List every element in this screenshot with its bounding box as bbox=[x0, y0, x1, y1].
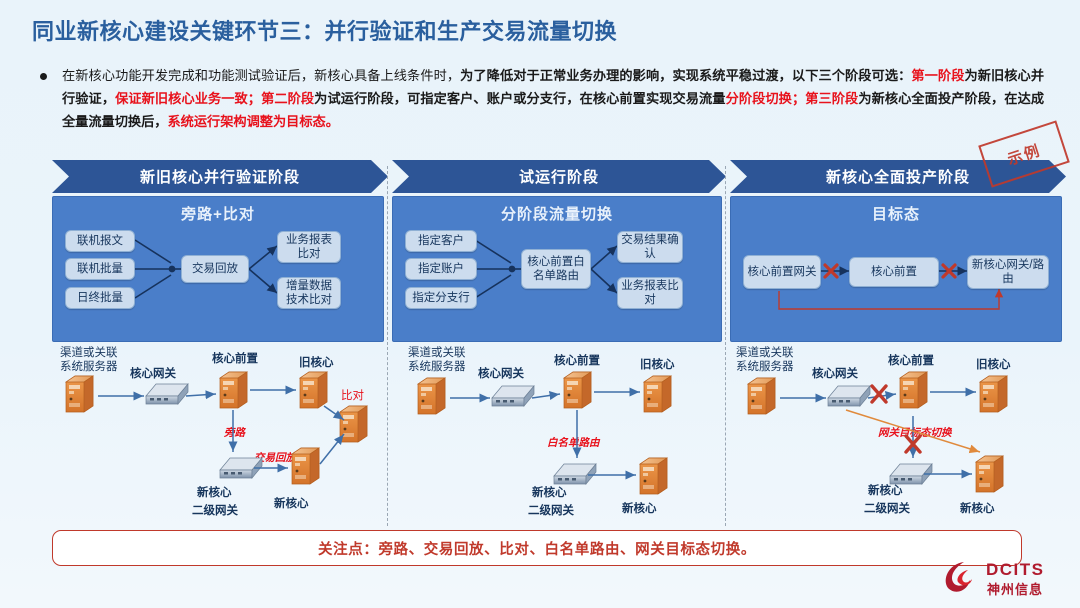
logo-text-cn: 神州信息 bbox=[987, 579, 1043, 598]
paragraph-segment: 为了降低对于正常业务办理的影响，实现系统平稳过渡，以下三个阶段可选： bbox=[460, 68, 911, 83]
phase2-annotation-whitelist: 白名单路由 bbox=[547, 436, 601, 449]
paragraph-segment: 第一阶段 bbox=[911, 68, 964, 83]
phase1-input-2[interactable]: 联机批量 bbox=[65, 258, 135, 280]
phase2-input-3[interactable]: 指定分支行 bbox=[405, 287, 477, 309]
phase2-middle-1[interactable]: 核心前置白名单路由 bbox=[521, 249, 591, 289]
phase3-label-source-l2: 系统服务器 bbox=[736, 359, 794, 373]
phase1-gateway-core bbox=[146, 384, 188, 404]
paragraph-segment: 在新核心功能开发完成和功能测试验证后，新核心具备上线条件时， bbox=[62, 68, 460, 83]
phase3-cross-icon-1 bbox=[872, 386, 886, 402]
phase3-diagram-panel: 目标态 核心前置网关 核心前置 bbox=[730, 196, 1062, 342]
paragraph-segment: 保证新旧核心业务一致； bbox=[115, 91, 261, 106]
phase1-label-gateway: 核心网关 bbox=[130, 366, 176, 380]
phase1-diagram-panel: 旁路+比对 联机报文 联机批量 日终批量 交易回放 业务报表比对 增 bbox=[52, 196, 384, 342]
phase3-label-gateway: 核心网关 bbox=[812, 366, 858, 380]
phase-header-1[interactable]: 新旧核心并行验证阶段 bbox=[52, 160, 388, 193]
bullet-paragraph-text: 在新核心功能开发完成和功能测试验证后，新核心具备上线条件时，为了降低对于正常业务… bbox=[62, 64, 1044, 133]
column-divider-2 bbox=[725, 166, 726, 526]
dcits-mark-icon bbox=[940, 558, 984, 598]
phase3-label-new-core: 新核心 bbox=[960, 501, 995, 515]
phase3-target-node-3[interactable]: 新核心网关/路由 bbox=[967, 255, 1049, 289]
paragraph-segment: 系统运行架构调整为目标态。 bbox=[168, 114, 339, 129]
phase2-server-source bbox=[418, 378, 445, 414]
phase1-output-1[interactable]: 业务报表比对 bbox=[277, 231, 341, 263]
phase3-target-node-2[interactable]: 核心前置 bbox=[849, 257, 939, 287]
phase2-label-old-core: 旧核心 bbox=[640, 357, 675, 371]
phase3-label-newgw-l1: 新核心 bbox=[868, 483, 903, 497]
phase2-label-new-core: 新核心 bbox=[622, 501, 657, 515]
phase2-server-new-core bbox=[640, 458, 667, 494]
phase2-label-source-l2: 系统服务器 bbox=[408, 359, 466, 373]
phase2-output-2[interactable]: 业务报表比对 bbox=[617, 277, 683, 309]
phase2-gateway-new-secondary bbox=[554, 464, 596, 484]
phase1-server-diagram: 渠道或关联 系统服务器 核心网关 核心前置 旧核心 比对 新核心 二级网关 新核… bbox=[52, 344, 382, 526]
phase1-server-new-core bbox=[292, 448, 319, 484]
logo-text-en: DCITS bbox=[986, 560, 1045, 580]
dcits-logo: DCITS 神州信息 bbox=[940, 558, 1066, 600]
phase1-middle-1[interactable]: 交易回放 bbox=[181, 255, 249, 283]
phase2-label-source-l1: 渠道或关联 bbox=[408, 345, 466, 359]
footer-key-points: 关注点：旁路、交易回放、比对、白名单路由、网关目标态切换。 bbox=[52, 530, 1022, 566]
bullet-dot-icon bbox=[40, 73, 47, 80]
phase3-server-front bbox=[900, 372, 927, 408]
phase1-server-front bbox=[220, 372, 247, 408]
phase2-label-newgw-l2: 二级网关 bbox=[528, 503, 574, 517]
phase1-annotation-bypass: 旁路 bbox=[223, 426, 246, 439]
phase2-label-newgw-l1: 新核心 bbox=[532, 485, 567, 499]
phase1-label-front: 核心前置 bbox=[212, 351, 258, 365]
phase2-output-1[interactable]: 交易结果确认 bbox=[617, 231, 683, 263]
phase2-gateway-core bbox=[492, 386, 534, 406]
phase1-server-compare bbox=[340, 406, 367, 442]
phase3-label-old-core: 旧核心 bbox=[976, 357, 1011, 371]
phase1-label-new-core: 新核心 bbox=[274, 496, 309, 510]
phase3-server-diagram: 渠道或关联 系统服务器 核心网关 核心前置 旧核心 新核心 二级网关 新核心 网… bbox=[730, 344, 1060, 526]
bullet-paragraph-block: 在新核心功能开发完成和功能测试验证后，新核心具备上线条件时，为了降低对于正常业务… bbox=[34, 64, 1044, 133]
paragraph-segment: 分阶段切换； bbox=[726, 91, 806, 106]
phase2-server-diagram: 渠道或关联 系统服务器 核心网关 核心前置 旧核心 新核心 二级网关 新核心 白… bbox=[392, 344, 720, 526]
phase2-server-old-core bbox=[644, 376, 671, 412]
phase1-input-3[interactable]: 日终批量 bbox=[65, 287, 135, 309]
phase2-input-2[interactable]: 指定账户 bbox=[405, 258, 477, 280]
phase2-server-front bbox=[564, 372, 591, 408]
page-title: 同业新核心建设关键环节三：并行验证和生产交易流量切换 bbox=[32, 14, 617, 46]
phase2-label-front: 核心前置 bbox=[554, 353, 600, 367]
phase2-label-gateway: 核心网关 bbox=[478, 366, 524, 380]
phase3-label-source-l1: 渠道或关联 bbox=[736, 345, 794, 359]
phase1-output-2[interactable]: 增量数据技术比对 bbox=[277, 277, 341, 309]
phase1-label-compare: 比对 bbox=[341, 388, 364, 402]
column-divider-1 bbox=[387, 166, 388, 526]
phase1-input-1[interactable]: 联机报文 bbox=[65, 230, 135, 252]
paragraph-segment: 为试运行阶段，可指定客户、账户或分支行，在核心前置实现交易流量 bbox=[314, 91, 725, 106]
phase-header-2[interactable]: 试运行阶段 bbox=[392, 160, 726, 193]
paragraph-segment: 第二阶段 bbox=[261, 91, 314, 106]
phase3-label-newgw-l2: 二级网关 bbox=[864, 501, 910, 515]
phase3-label-front: 核心前置 bbox=[888, 353, 934, 367]
phase1-label-newgw-l1: 新核心 bbox=[197, 485, 232, 499]
phase3-server-source bbox=[748, 378, 775, 414]
phase3-server-new-core bbox=[976, 456, 1003, 492]
phase1-server-old-core bbox=[300, 372, 327, 408]
phase2-input-1[interactable]: 指定客户 bbox=[405, 230, 477, 252]
phase2-diagram-panel: 分阶段流量切换 指定客户 指定账户 指定分支行 核心前置白名单路由 交易结果确认… bbox=[392, 196, 722, 342]
phase-column-2: 分阶段流量切换 指定客户 指定账户 指定分支行 核心前置白名单路由 交易结果确认… bbox=[392, 196, 720, 526]
phase3-server-old-core bbox=[980, 376, 1007, 412]
phase-column-1: 旁路+比对 联机报文 联机批量 日终批量 交易回放 业务报表比对 增 bbox=[52, 196, 382, 526]
paragraph-segment: 第三阶段 bbox=[805, 91, 858, 106]
phase1-label-source-l2: 系统服务器 bbox=[60, 359, 118, 373]
slide-root: 同业新核心建设关键环节三：并行验证和生产交易流量切换 在新核心功能开发完成和功能… bbox=[0, 0, 1080, 608]
phase3-gateway-core bbox=[828, 386, 870, 406]
phase1-label-newgw-l2: 二级网关 bbox=[192, 503, 238, 517]
phase1-label-source-l1: 渠道或关联 bbox=[60, 345, 118, 359]
phase1-server-source bbox=[66, 376, 93, 412]
phase1-label-old-core: 旧核心 bbox=[299, 355, 334, 369]
phase3-target-node-1[interactable]: 核心前置网关 bbox=[743, 255, 821, 289]
phase-column-3: 目标态 核心前置网关 核心前置 bbox=[730, 196, 1060, 526]
